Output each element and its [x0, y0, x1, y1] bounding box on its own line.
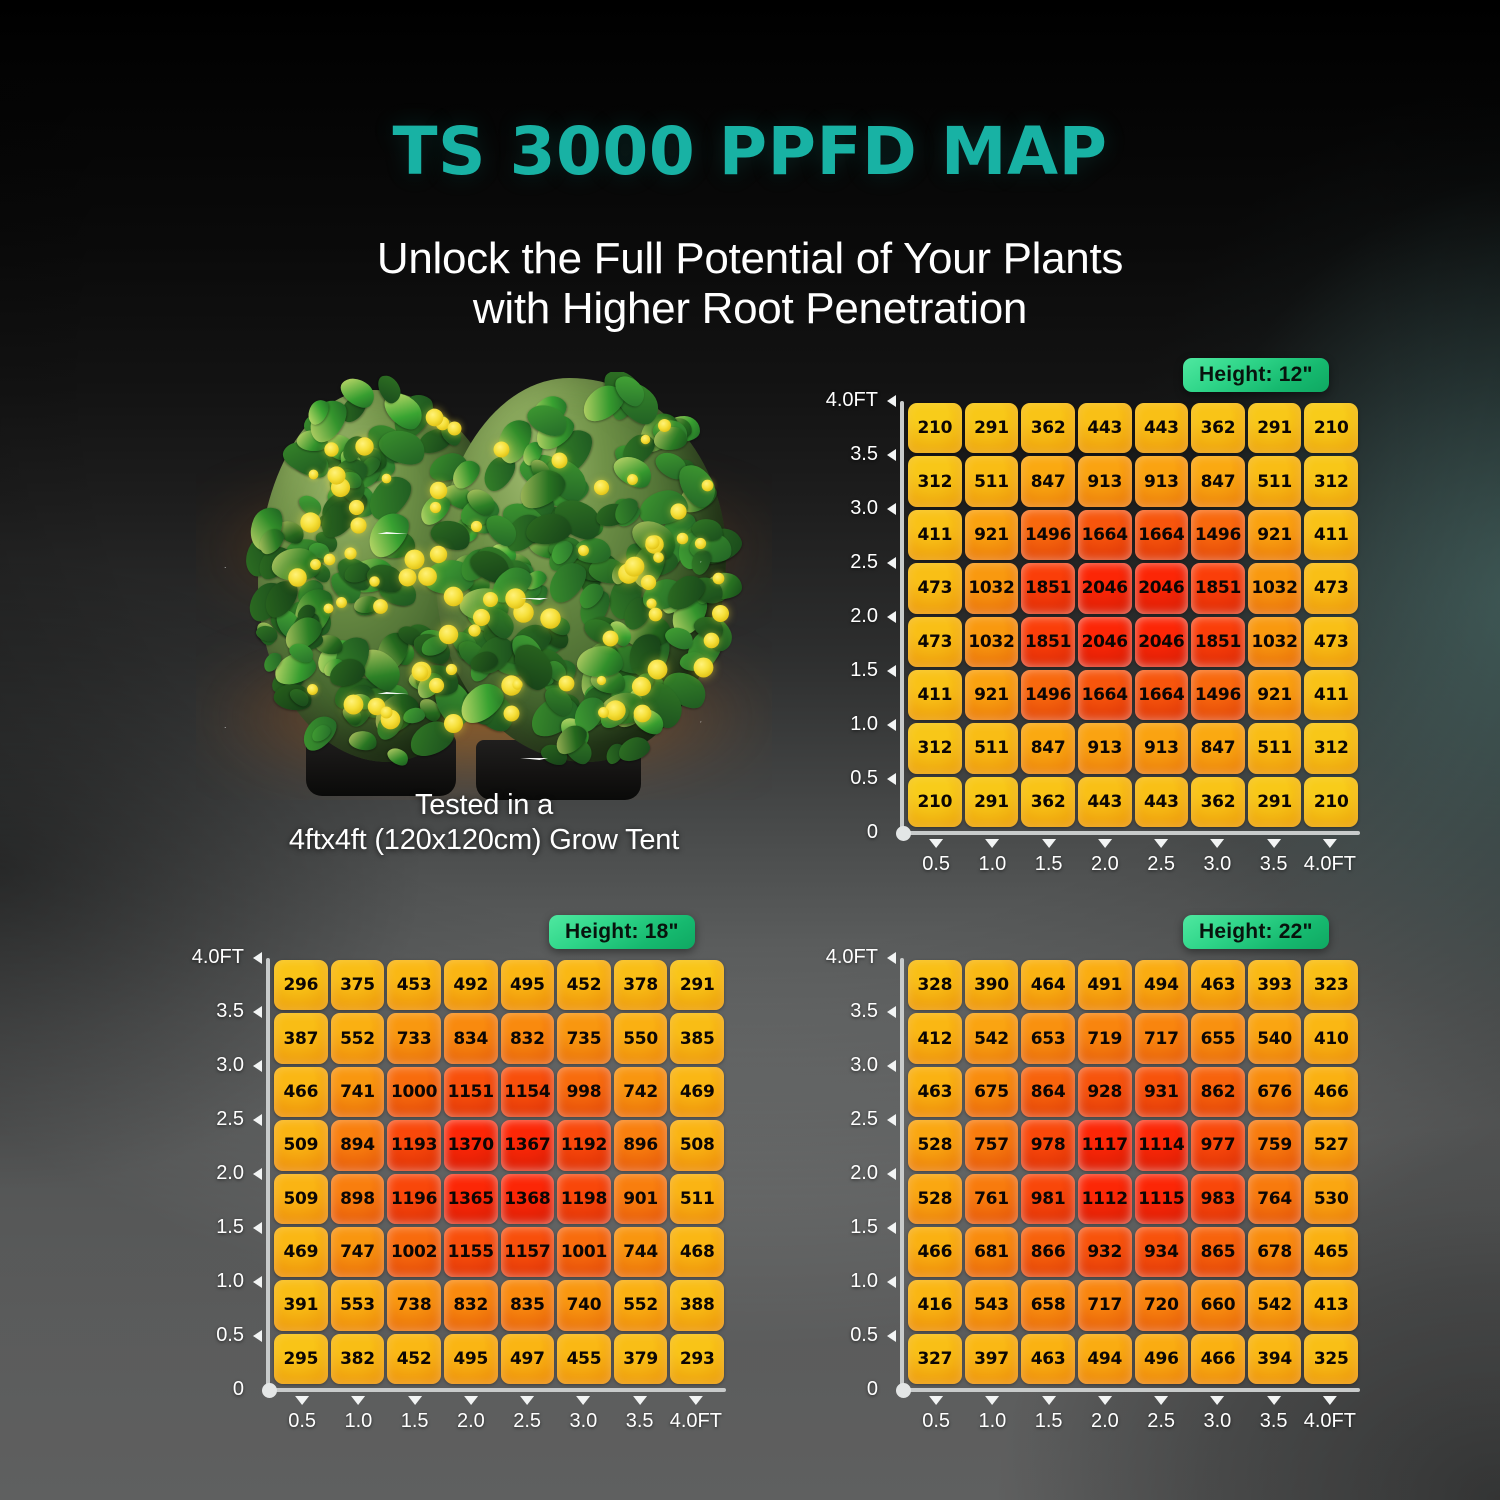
- heatmap-cell: 552: [614, 1280, 668, 1330]
- y-axis-tick-label: 1.5: [850, 1216, 878, 1239]
- heatmap-cell: 1032: [965, 617, 1019, 667]
- x-axis-tick-marker-icon: [408, 1396, 422, 1405]
- y-axis-tick: 0.5: [850, 767, 896, 790]
- heatmap-cell: 660: [1191, 1280, 1245, 1330]
- x-axis-tick-label: 2.5: [1147, 853, 1175, 876]
- x-axis-tick: 0.5: [922, 839, 950, 876]
- plant-flower: [429, 482, 447, 500]
- heatmap-cell: 509: [274, 1120, 328, 1170]
- x-axis-tick: 2.0: [1091, 839, 1119, 876]
- y-axis-tick-label: 3.5: [216, 1000, 244, 1023]
- y-axis-tick-label: 2.5: [850, 1108, 878, 1131]
- heatmap-cell: 1154: [501, 1067, 555, 1117]
- x-axis-tick-label: 4.0FT: [670, 1410, 722, 1433]
- heatmap-cell: 676: [1248, 1067, 1302, 1117]
- heatmap-cell: 1192: [557, 1120, 611, 1170]
- x-axis-tick: 3.0: [1203, 839, 1231, 876]
- y-axis-tick-marker-icon: [887, 1222, 896, 1234]
- heatmap-cell: 921: [965, 670, 1019, 720]
- heatmap-cell: 390: [965, 960, 1019, 1010]
- heatmap-cell: 394: [1248, 1334, 1302, 1384]
- y-axis-tick: 3.0: [216, 1054, 262, 1077]
- y-axis-tick-marker-icon: [887, 503, 896, 515]
- plant-flower: [308, 469, 318, 479]
- x-axis-tick-label: 3.0: [569, 1410, 597, 1433]
- heatmap-cell: 542: [965, 1013, 1019, 1063]
- heatmap-cell: 466: [908, 1227, 962, 1277]
- y-axis-ticks-22in: 4.0FT3.53.02.52.01.51.00.50: [830, 912, 896, 1432]
- heatmap-cell: 473: [908, 617, 962, 667]
- y-axis-tick: 2.0: [850, 1162, 896, 1185]
- ppfd-map-12in: Height: 12" 2102913624434433622912103125…: [830, 355, 1390, 875]
- y-axis-tick-label: 3.0: [216, 1054, 244, 1077]
- heatmap-cell: 210: [1304, 403, 1358, 453]
- heatmap-cell: 473: [908, 563, 962, 613]
- heatmap-cell: 717: [1135, 1013, 1189, 1063]
- plant-flower: [693, 657, 713, 677]
- heatmap-cell: 983: [1191, 1174, 1245, 1224]
- heatmap-cell: 509: [274, 1174, 328, 1224]
- y-axis-tick-marker-icon: [887, 1276, 896, 1288]
- heatmap-cell: 1496: [1021, 670, 1075, 720]
- plant-flower: [597, 676, 606, 685]
- x-axis-ticks-22in: 0.51.01.52.02.53.03.54.0FT: [830, 1396, 1390, 1446]
- x-axis-tick-marker-icon: [689, 1396, 703, 1405]
- x-axis-tick: 1.0: [344, 1396, 372, 1433]
- y-axis-tick-label: 1.5: [850, 659, 878, 682]
- caption-line-2: 4ftx4ft (120x120cm) Grow Tent: [196, 823, 772, 858]
- x-axis-tick: 1.5: [401, 1396, 429, 1433]
- plant-flower: [426, 408, 444, 426]
- heatmap-grid-12in: 2102913624434433622912103125118479139138…: [830, 355, 1390, 875]
- heatmap-cell: 1117: [1078, 1120, 1132, 1170]
- heatmap-cell: 835: [501, 1280, 555, 1330]
- x-axis-tick-marker-icon: [929, 839, 943, 848]
- heatmap-cell: 410: [1304, 1013, 1358, 1063]
- x-axis-tick-label: 4.0FT: [1304, 853, 1356, 876]
- y-axis-tick-marker-icon: [253, 1330, 262, 1342]
- x-axis-tick-label: 1.5: [401, 1410, 429, 1433]
- y-axis-tick-label: 0.5: [850, 1324, 878, 1347]
- plant-flower: [627, 474, 638, 485]
- heatmap-cell: 473: [1304, 563, 1358, 613]
- y-axis-tick-marker-icon: [887, 719, 896, 731]
- plant-flower: [413, 664, 429, 680]
- heatmap-cell: 913: [1078, 456, 1132, 506]
- heatmap-cell: 932: [1078, 1227, 1132, 1277]
- x-axis-tick-marker-icon: [985, 1396, 999, 1405]
- heatmap-cell: 511: [965, 456, 1019, 506]
- heatmap-cell: 413: [1304, 1280, 1358, 1330]
- y-axis-tick-marker-icon: [887, 1060, 896, 1072]
- heatmap-cell: 2046: [1078, 617, 1132, 667]
- heatmap-cell: 1000: [387, 1067, 441, 1117]
- heatmap-cell: 469: [670, 1067, 724, 1117]
- heatmap-cell: 1496: [1191, 510, 1245, 560]
- plant-flower: [551, 452, 567, 468]
- heatmap-cell: 296: [274, 960, 328, 1010]
- y-axis-tick-marker-icon: [887, 1114, 896, 1126]
- x-axis-tick-marker-icon: [1267, 1396, 1281, 1405]
- plant-photo: [196, 372, 772, 800]
- heatmap-cell: 495: [501, 960, 555, 1010]
- y-axis-tick-label: 0.5: [850, 767, 878, 790]
- heatmap-cell: 1032: [1248, 617, 1302, 667]
- x-axis-tick: 2.5: [1147, 1396, 1175, 1433]
- heatmap-cell: 291: [1248, 403, 1302, 453]
- y-axis-tick-marker-icon: [887, 1330, 896, 1342]
- heatmap-cell: 496: [1135, 1334, 1189, 1384]
- heatmap-cell: 1664: [1078, 510, 1132, 560]
- y-axis-tick-label: 4.0FT: [192, 946, 244, 969]
- y-axis-tick-marker-icon: [253, 952, 262, 964]
- heatmap-grid-22in: 3283904644914944633933234125426537197176…: [830, 912, 1390, 1432]
- heatmap-cell: 393: [1248, 960, 1302, 1010]
- heatmap-cell: 720: [1135, 1280, 1189, 1330]
- page-title: TS 3000 PPFD MAP: [0, 113, 1500, 190]
- heatmap-cell: 1032: [1248, 563, 1302, 613]
- y-axis-tick-label: 4.0FT: [826, 946, 878, 969]
- heatmap-cell: 1114: [1135, 1120, 1189, 1170]
- x-axis-tick: 3.0: [569, 1396, 597, 1433]
- heatmap-cell: 1002: [387, 1227, 441, 1277]
- y-axis-tick: 0.5: [216, 1324, 262, 1347]
- heatmap-cell: 658: [1021, 1280, 1075, 1330]
- x-axis-tick: 4.0FT: [1304, 839, 1356, 876]
- x-axis-tick-marker-icon: [1154, 839, 1168, 848]
- heatmap-cell: 1851: [1021, 563, 1075, 613]
- y-axis-line-12in: [900, 401, 904, 833]
- y-axis-tick: 3.0: [850, 497, 896, 520]
- plant-caption: Tested in a 4ftx4ft (120x120cm) Grow Ten…: [196, 788, 772, 858]
- y-axis-tick-label: 0.5: [216, 1324, 244, 1347]
- heatmap-cell: 681: [965, 1227, 1019, 1277]
- heatmap-cell: 210: [908, 403, 962, 453]
- y-axis-tick: 1.0: [850, 713, 896, 736]
- heatmap-cell: 865: [1191, 1227, 1245, 1277]
- heatmap-cell: 757: [965, 1120, 1019, 1170]
- y-axis-tick-marker-icon: [887, 1006, 896, 1018]
- plant-flower: [472, 609, 489, 626]
- heatmap-cell: 866: [1021, 1227, 1075, 1277]
- y-axis-tick: 3.5: [850, 443, 896, 466]
- heatmap-cell: 528: [908, 1174, 962, 1224]
- x-axis-line-12in: [900, 831, 1360, 835]
- x-axis-tick-marker-icon: [985, 839, 999, 848]
- heatmap-cell: 492: [444, 960, 498, 1010]
- heatmap-cell: 291: [1248, 777, 1302, 827]
- x-axis-tick-marker-icon: [464, 1396, 478, 1405]
- heatmap-cell: 717: [1078, 1280, 1132, 1330]
- heatmap-cell: 397: [965, 1334, 1019, 1384]
- y-axis-tick: 4.0FT: [826, 389, 896, 412]
- x-axis-tick-label: 1.5: [1035, 853, 1063, 876]
- heatmap-cell: 511: [1248, 456, 1302, 506]
- heatmap-cell: 901: [614, 1174, 668, 1224]
- heatmap-cell: 411: [908, 510, 962, 560]
- heatmap-cell: 1196: [387, 1174, 441, 1224]
- x-axis-tick-label: 3.5: [1260, 853, 1288, 876]
- y-axis-tick: 4.0FT: [826, 946, 896, 969]
- heatmap-cell: 747: [331, 1227, 385, 1277]
- heatmap-cell: 464: [1021, 960, 1075, 1010]
- heatmap-cell: 1851: [1191, 617, 1245, 667]
- heatmap-cell: 411: [908, 670, 962, 720]
- y-axis-tick: 2.5: [216, 1108, 262, 1131]
- y-axis-tick: 3.5: [216, 1000, 262, 1023]
- heatmap-cell: 1851: [1191, 563, 1245, 613]
- x-axis-tick-marker-icon: [295, 1396, 309, 1405]
- heatmap-cell: 443: [1078, 777, 1132, 827]
- heatmap-cell: 497: [501, 1334, 555, 1384]
- heatmap-cell: 744: [614, 1227, 668, 1277]
- heatmap-cell: 468: [670, 1227, 724, 1277]
- x-axis-tick-label: 0.5: [922, 853, 950, 876]
- heatmap-cell: 864: [1021, 1067, 1075, 1117]
- heatmap-cell: 463: [908, 1067, 962, 1117]
- heatmap-cell: 443: [1135, 403, 1189, 453]
- heatmap-cell: 1370: [444, 1120, 498, 1170]
- heatmap-cell: 550: [614, 1013, 668, 1063]
- heatmap-cell: 466: [1191, 1334, 1245, 1384]
- x-axis-tick: 1.0: [978, 839, 1006, 876]
- heatmap-cell: 913: [1135, 723, 1189, 773]
- x-axis-tick-label: 3.0: [1203, 853, 1231, 876]
- plant-flower: [355, 437, 373, 455]
- heatmap-cell: 847: [1191, 456, 1245, 506]
- y-axis-tick: 0.5: [850, 1324, 896, 1347]
- heatmap-cell: 469: [274, 1227, 328, 1277]
- y-axis-tick-marker-icon: [887, 611, 896, 623]
- heatmap-cell: 675: [965, 1067, 1019, 1117]
- heatmap-cell: 1365: [444, 1174, 498, 1224]
- plant-flower: [540, 608, 561, 629]
- heatmap-cell: 719: [1078, 1013, 1132, 1063]
- heatmap-cell: 325: [1304, 1334, 1358, 1384]
- x-axis-ticks-12in: 0.51.01.52.02.53.03.54.0FT: [830, 839, 1390, 889]
- heatmap-cell: 761: [965, 1174, 1019, 1224]
- heatmap-cell: 742: [614, 1067, 668, 1117]
- heatmap-cell: 387: [274, 1013, 328, 1063]
- heatmap-cell: 653: [1021, 1013, 1075, 1063]
- heatmap-cell: 1001: [557, 1227, 611, 1277]
- heatmap-cells-12in: 2102913624434433622912103125118479139138…: [908, 403, 1358, 827]
- heatmap-cell: 543: [965, 1280, 1019, 1330]
- heatmap-cell: 2046: [1135, 563, 1189, 613]
- y-axis-tick-marker-icon: [253, 1060, 262, 1072]
- plant-flower: [438, 624, 458, 644]
- heatmap-cell: 655: [1191, 1013, 1245, 1063]
- y-axis-tick-label: 1.0: [216, 1270, 244, 1293]
- y-axis-tick: 2.0: [216, 1162, 262, 1185]
- x-axis-tick-marker-icon: [1098, 839, 1112, 848]
- x-axis-line-22in: [900, 1388, 1360, 1392]
- heatmap-cell: 511: [1248, 723, 1302, 773]
- plant-flower: [702, 479, 714, 491]
- plant-flower: [373, 599, 388, 614]
- heatmap-cell: 291: [965, 777, 1019, 827]
- heatmap-cell: 495: [444, 1334, 498, 1384]
- y-axis-tick-label: 2.5: [850, 551, 878, 574]
- x-axis-tick-label: 2.5: [1147, 1410, 1175, 1433]
- x-axis-tick-label: 3.0: [1203, 1410, 1231, 1433]
- heatmap-cell: 921: [1248, 670, 1302, 720]
- heatmap-cell: 740: [557, 1280, 611, 1330]
- y-axis-tick-label: 2.0: [216, 1162, 244, 1185]
- heatmap-cell: 452: [557, 960, 611, 1010]
- heatmap-cell: 832: [444, 1280, 498, 1330]
- plant-flower: [632, 677, 651, 696]
- heatmap-cell: 931: [1135, 1067, 1189, 1117]
- page-root: TS 3000 PPFD MAP Unlock the Full Potenti…: [0, 0, 1500, 1500]
- plant-flower: [658, 419, 671, 432]
- y-axis-tick-marker-icon: [887, 557, 896, 569]
- y-axis-tick-label: 3.5: [850, 443, 878, 466]
- heatmap-cell: 978: [1021, 1120, 1075, 1170]
- y-axis-tick-marker-icon: [887, 1168, 896, 1180]
- heatmap-cell: 385: [670, 1013, 724, 1063]
- heatmap-cell: 894: [331, 1120, 385, 1170]
- x-axis-tick-marker-icon: [633, 1396, 647, 1405]
- heatmap-cell: 312: [1304, 456, 1358, 506]
- heatmap-cell: 764: [1248, 1174, 1302, 1224]
- y-axis-tick: 4.0FT: [192, 946, 262, 969]
- x-axis-tick: 4.0FT: [1304, 1396, 1356, 1433]
- plant-flower: [324, 442, 338, 456]
- y-axis-tick-label: 1.0: [850, 1270, 878, 1293]
- heatmap-cell: 735: [557, 1013, 611, 1063]
- plant-flower: [323, 603, 333, 613]
- heatmap-cell: 977: [1191, 1120, 1245, 1170]
- plant-flower: [704, 632, 720, 648]
- heatmap-cell: 494: [1135, 960, 1189, 1010]
- x-axis-tick-label: 2.0: [1091, 853, 1119, 876]
- x-axis-tick-label: 2.0: [457, 1410, 485, 1433]
- plant-flower: [602, 631, 618, 647]
- heatmap-cell: 898: [331, 1174, 385, 1224]
- x-axis-tick-marker-icon: [351, 1396, 365, 1405]
- heatmap-cell: 312: [908, 723, 962, 773]
- x-axis-tick-label: 1.0: [978, 1410, 1006, 1433]
- heatmap-cell: 2046: [1135, 617, 1189, 667]
- heatmap-cell: 466: [274, 1067, 328, 1117]
- heatmap-cell: 741: [331, 1067, 385, 1117]
- page-subtitle: Unlock the Full Potential of Your Plants…: [0, 234, 1500, 334]
- x-axis-tick-marker-icon: [1323, 839, 1337, 848]
- heatmap-cells-18in: 2963754534924954523782913875527338348327…: [274, 960, 724, 1384]
- heatmap-cell: 1367: [501, 1120, 555, 1170]
- x-axis-tick-label: 1.5: [1035, 1410, 1063, 1433]
- plant-flower: [428, 678, 443, 693]
- heatmap-cell: 678: [1248, 1227, 1302, 1277]
- y-axis-tick-label: 2.0: [850, 605, 878, 628]
- heatmap-cell: 1664: [1135, 670, 1189, 720]
- y-axis-tick-label: 3.0: [850, 1054, 878, 1077]
- y-axis-tick: 1.5: [850, 659, 896, 682]
- heatmap-cell: 542: [1248, 1280, 1302, 1330]
- heatmap-cell: 362: [1021, 403, 1075, 453]
- y-axis-tick: 1.5: [850, 1216, 896, 1239]
- y-axis-line-18in: [266, 958, 270, 1390]
- x-axis-tick: 2.0: [457, 1396, 485, 1433]
- heatmap-cell: 847: [1021, 456, 1075, 506]
- heatmap-cell: 1032: [965, 563, 1019, 613]
- y-axis-tick-label: 1.0: [850, 713, 878, 736]
- y-axis-ticks-12in: 4.0FT3.53.02.52.01.51.00.50: [830, 355, 896, 875]
- x-axis-tick: 1.0: [978, 1396, 1006, 1433]
- heatmap-cell: 847: [1021, 723, 1075, 773]
- heatmap-cell: 295: [274, 1334, 328, 1384]
- heatmap-cell: 466: [1304, 1067, 1358, 1117]
- heatmap-cell: 491: [1078, 960, 1132, 1010]
- y-axis-tick-marker-icon: [887, 665, 896, 677]
- x-axis-tick-marker-icon: [1210, 1396, 1224, 1405]
- heatmap-cell: 1151: [444, 1067, 498, 1117]
- x-axis-tick-label: 2.0: [1091, 1410, 1119, 1433]
- heatmap-cell: 928: [1078, 1067, 1132, 1117]
- heatmap-cell: 1193: [387, 1120, 441, 1170]
- y-axis-tick-label: 3.0: [850, 497, 878, 520]
- heatmap-cell: 463: [1021, 1334, 1075, 1384]
- heatmap-cell: 327: [908, 1334, 962, 1384]
- heatmap-cell: 540: [1248, 1013, 1302, 1063]
- heatmap-cell: 847: [1191, 723, 1245, 773]
- heatmap-cell: 455: [557, 1334, 611, 1384]
- plant-flower: [328, 466, 346, 484]
- plant-flower: [676, 532, 688, 544]
- heatmap-cell: 416: [908, 1280, 962, 1330]
- plant-flower: [712, 605, 729, 622]
- heatmap-cell: 913: [1135, 456, 1189, 506]
- heatmap-cell: 312: [1304, 723, 1358, 773]
- heatmap-cell: 759: [1248, 1120, 1302, 1170]
- heatmap-cell: 452: [387, 1334, 441, 1384]
- heatmap-cell: 508: [670, 1120, 724, 1170]
- heatmap-cell: 210: [1304, 777, 1358, 827]
- heatmap-cell: 293: [670, 1334, 724, 1384]
- y-axis-tick-label: 3.5: [850, 1000, 878, 1023]
- heatmap-cell: 362: [1191, 403, 1245, 453]
- y-axis-tick-marker-icon: [887, 395, 896, 407]
- plant-flower: [558, 675, 574, 691]
- y-axis-ticks-18in: 4.0FT3.53.02.52.01.51.00.50: [196, 912, 262, 1432]
- x-axis-tick: 3.0: [1203, 1396, 1231, 1433]
- x-axis-line-18in: [266, 1388, 726, 1392]
- plant-flower: [471, 521, 482, 532]
- plant-flower: [468, 624, 480, 636]
- y-axis-tick-marker-icon: [253, 1222, 262, 1234]
- heatmap-cell: 291: [965, 403, 1019, 453]
- heatmap-cell: 312: [908, 456, 962, 506]
- heatmap-cell: 1496: [1191, 670, 1245, 720]
- y-axis-tick: 1.0: [216, 1270, 262, 1293]
- y-axis-tick-marker-icon: [887, 952, 896, 964]
- heatmap-cell: 388: [670, 1280, 724, 1330]
- heatmap-cell: 323: [1304, 960, 1358, 1010]
- x-axis-tick-label: 3.5: [1260, 1410, 1288, 1433]
- heatmap-cell: 382: [331, 1334, 385, 1384]
- heatmap-cell: 463: [1191, 960, 1245, 1010]
- x-axis-tick-label: 0.5: [922, 1410, 950, 1433]
- y-axis-tick: 2.0: [850, 605, 896, 628]
- y-axis-tick: 1.0: [850, 1270, 896, 1293]
- x-axis-tick-marker-icon: [1267, 839, 1281, 848]
- heatmap-cell: 921: [965, 510, 1019, 560]
- heatmap-cell: 1112: [1078, 1174, 1132, 1224]
- x-axis-tick: 3.5: [626, 1396, 654, 1433]
- x-axis-tick-marker-icon: [1098, 1396, 1112, 1405]
- x-axis-tick: 4.0FT: [670, 1396, 722, 1433]
